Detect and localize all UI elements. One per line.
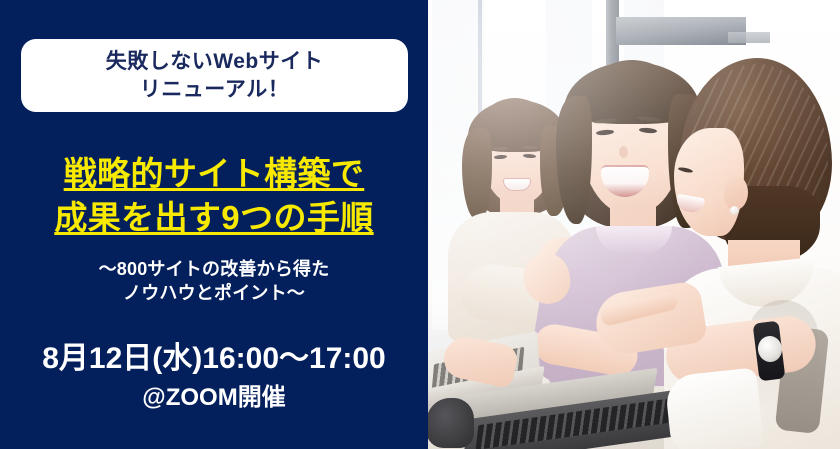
desk-phone — [428, 398, 474, 448]
window-frame-arm — [616, 17, 746, 45]
headline-line-1: 戦略的サイト構築で — [0, 152, 428, 196]
page-title: 戦略的サイト構築で 成果を出す9つの手順 — [0, 152, 428, 239]
woman-left-eyebrow-right — [522, 146, 538, 149]
event-platform: @ZOOM開催 — [0, 382, 428, 413]
schedule-block: 8月12日(水)16:00〜17:00 @ZOOM開催 — [0, 340, 428, 413]
woman-center-nose — [619, 146, 628, 158]
event-date-time: 8月12日(水)16:00〜17:00 — [0, 340, 428, 377]
title-line-1: 失敗しないWebサイト — [106, 48, 323, 75]
woman-right-lower-sleeve — [664, 367, 764, 449]
title-pill-box: 失敗しないWebサイト リニューアル！ — [21, 39, 408, 112]
headline-line-2: 成果を出す9つの手順 — [0, 196, 428, 240]
meeting-photo — [428, 0, 840, 449]
window-frame-arm-2 — [728, 32, 770, 43]
woman-right-pearl-earring — [730, 206, 739, 215]
webinar-banner: 失敗しないWebサイト リニューアル！ 戦略的サイト構築で 成果を出す9つの手順… — [0, 0, 840, 449]
woman-left-hair-side-left — [462, 128, 492, 220]
subtitle: 〜800サイトの改善から得た ノウハウとポイント〜 — [0, 258, 428, 306]
title-line-2: リニューアル！ — [140, 76, 289, 103]
subtitle-line-2: ノウハウとポイント〜 — [0, 282, 428, 306]
photo-scene — [428, 0, 840, 449]
subtitle-line-1: 〜800サイトの改善から得た — [0, 258, 428, 282]
navy-text-panel: 失敗しないWebサイト リニューアル！ 戦略的サイト構築で 成果を出す9つの手順… — [0, 0, 428, 449]
woman-left-eyebrow-left — [492, 147, 508, 150]
